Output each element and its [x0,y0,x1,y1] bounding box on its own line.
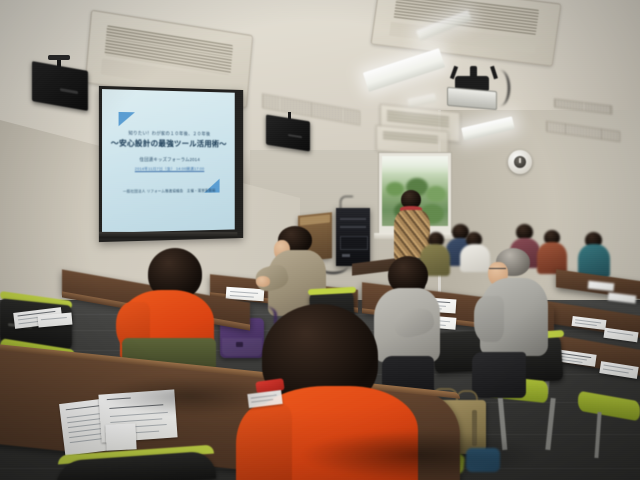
attendee-gray-hoodie-glasses [489,268,506,273]
wall-clock-face [514,156,526,168]
slide-line-5: 一般社団法人 リフォーム推進協議会 主催・運営事務局 [108,188,229,194]
attendee-white-shirt-body [460,244,490,272]
slide-line-2: ～安心設計の最強ツール活用術～ [108,137,229,149]
slide-accent-top-left [119,112,135,127]
slide-line-4: 2014年11月7日（金） 14:00開演17:00 [112,167,225,172]
gooseneck-microphone [340,196,353,211]
screen-roller-case [99,232,237,238]
slide-line-1: 知りたい！わが家の１０年後、２０年後 [112,130,225,137]
purple-bag-strap [250,306,277,324]
projection-screen-frame: 知りたい！わが家の１０年後、２０年後 ～安心設計の最強ツール活用術～ 住団連キッ… [99,86,243,242]
floor-shadow-left [100,376,280,416]
slide-line-3: 住団連キッズフォーラム2014 [114,157,223,163]
foreground-paper-small [105,423,136,451]
attendee-gray-hoodie-legs [472,352,526,398]
seminar-room-photo: 知りたい！わが家の１０年後、２０年後 ～安心設計の最強ツール活用術～ 住団連キッ… [0,0,640,480]
wall-clock [508,150,532,174]
floor-shadow-center [300,430,540,480]
attendee-tan-sweater-hand [256,276,270,287]
projection-screen-surface: 知りたい！わが家の１０年後、２０年後 ～安心設計の最強ツール活用術～ 住団連キッ… [102,89,235,233]
ceiling-speaker-left-plate [48,55,70,60]
attendee-gray-hoodie-arm [474,296,504,342]
projector-cable [490,70,510,106]
